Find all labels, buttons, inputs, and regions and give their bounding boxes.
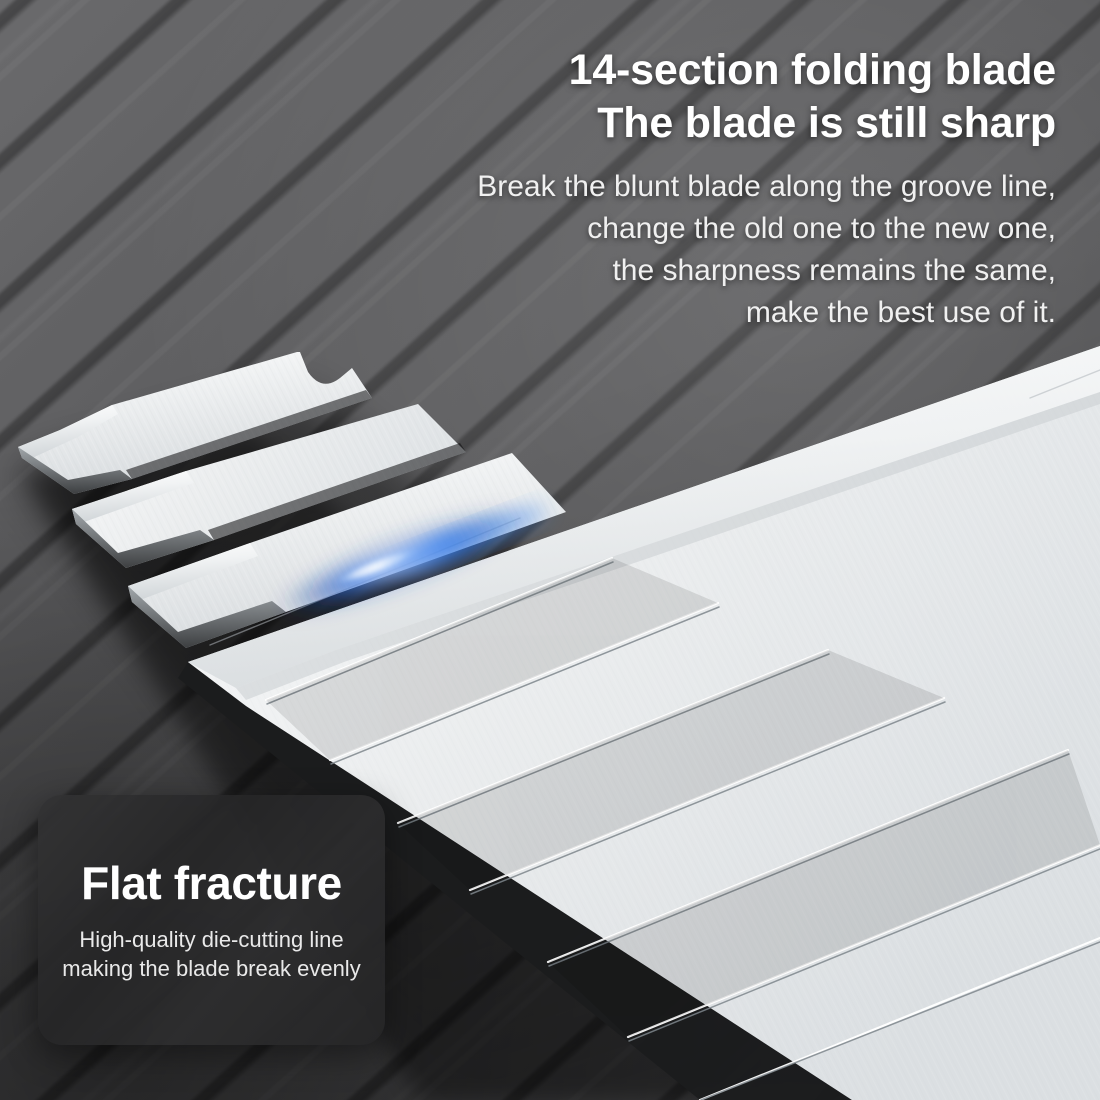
feature-card-sub-line-1: High-quality die-cutting line: [62, 925, 360, 954]
subcopy-line-1: Break the blunt blade along the groove l…: [400, 166, 1056, 208]
subcopy-line-4: make the best use of it.: [400, 292, 1056, 334]
subcopy-line-3: the sharpness remains the same,: [400, 250, 1056, 292]
feature-card-subtitle: High-quality die-cutting line making the…: [62, 925, 360, 983]
feature-card-sheen: [38, 795, 385, 1045]
feature-card: Flat fracture High-quality die-cutting l…: [38, 795, 385, 1045]
feature-card-sub-line-2: making the blade break evenly: [62, 954, 360, 983]
product-banner: 14-section folding blade The blade is st…: [0, 0, 1100, 1100]
feature-card-title: Flat fracture: [81, 857, 342, 909]
subcopy: Break the blunt blade along the groove l…: [400, 166, 1056, 334]
headline-line-2: The blade is still sharp: [420, 97, 1056, 150]
subcopy-line-2: change the old one to the new one,: [400, 208, 1056, 250]
headline-line-1: 14-section folding blade: [420, 44, 1056, 97]
headline: 14-section folding blade The blade is st…: [420, 44, 1056, 150]
